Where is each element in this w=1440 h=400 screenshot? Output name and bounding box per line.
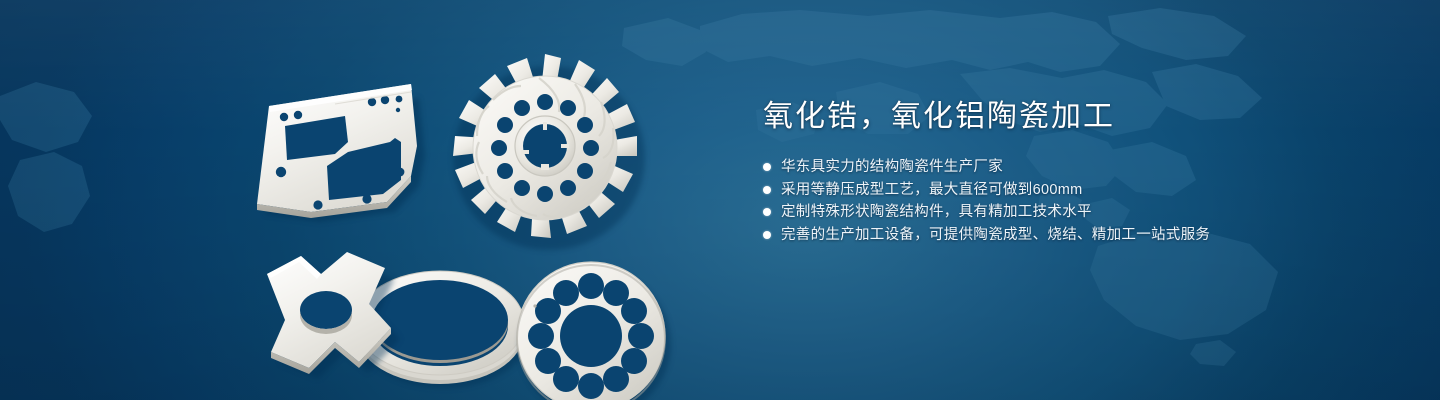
list-item: 采用等静压成型工艺，最大直径可做到600mm	[763, 179, 1283, 202]
bullet-dot-icon	[763, 231, 771, 239]
ceramic-impeller-part	[453, 54, 645, 250]
list-item-label: 华东具实力的结构陶瓷件生产厂家	[781, 156, 1003, 179]
list-item: 华东具实力的结构陶瓷件生产厂家	[763, 156, 1283, 179]
page-title: 氧化锆，氧化铝陶瓷加工	[763, 100, 1283, 134]
bullet-dot-icon	[763, 186, 771, 194]
list-item-label: 定制特殊形状陶瓷结构件，具有精加工技术水平	[781, 201, 1092, 224]
ceramic-perforated-disc-part	[517, 262, 671, 400]
list-item-label: 完善的生产加工设备，可提供陶瓷成型、烧结、精加工一站式服务	[781, 224, 1210, 247]
banner-copy: 氧化锆，氧化铝陶瓷加工 华东具实力的结构陶瓷件生产厂家 采用等静压成型工艺，最大…	[763, 100, 1283, 246]
list-item-label: 采用等静压成型工艺，最大直径可做到600mm	[781, 179, 1082, 202]
product-photo	[215, 30, 735, 390]
list-item: 完善的生产加工设备，可提供陶瓷成型、烧结、精加工一站式服务	[763, 224, 1283, 247]
bullet-dot-icon	[763, 163, 771, 171]
ceramic-plate-part	[257, 84, 425, 222]
list-item: 定制特殊形状陶瓷结构件，具有精加工技术水平	[763, 201, 1283, 224]
promo-banner: 氧化锆，氧化铝陶瓷加工 华东具实力的结构陶瓷件生产厂家 采用等静压成型工艺，最大…	[0, 0, 1440, 400]
feature-list: 华东具实力的结构陶瓷件生产厂家 采用等静压成型工艺，最大直径可做到600mm 定…	[763, 156, 1283, 246]
bullet-dot-icon	[763, 208, 771, 216]
